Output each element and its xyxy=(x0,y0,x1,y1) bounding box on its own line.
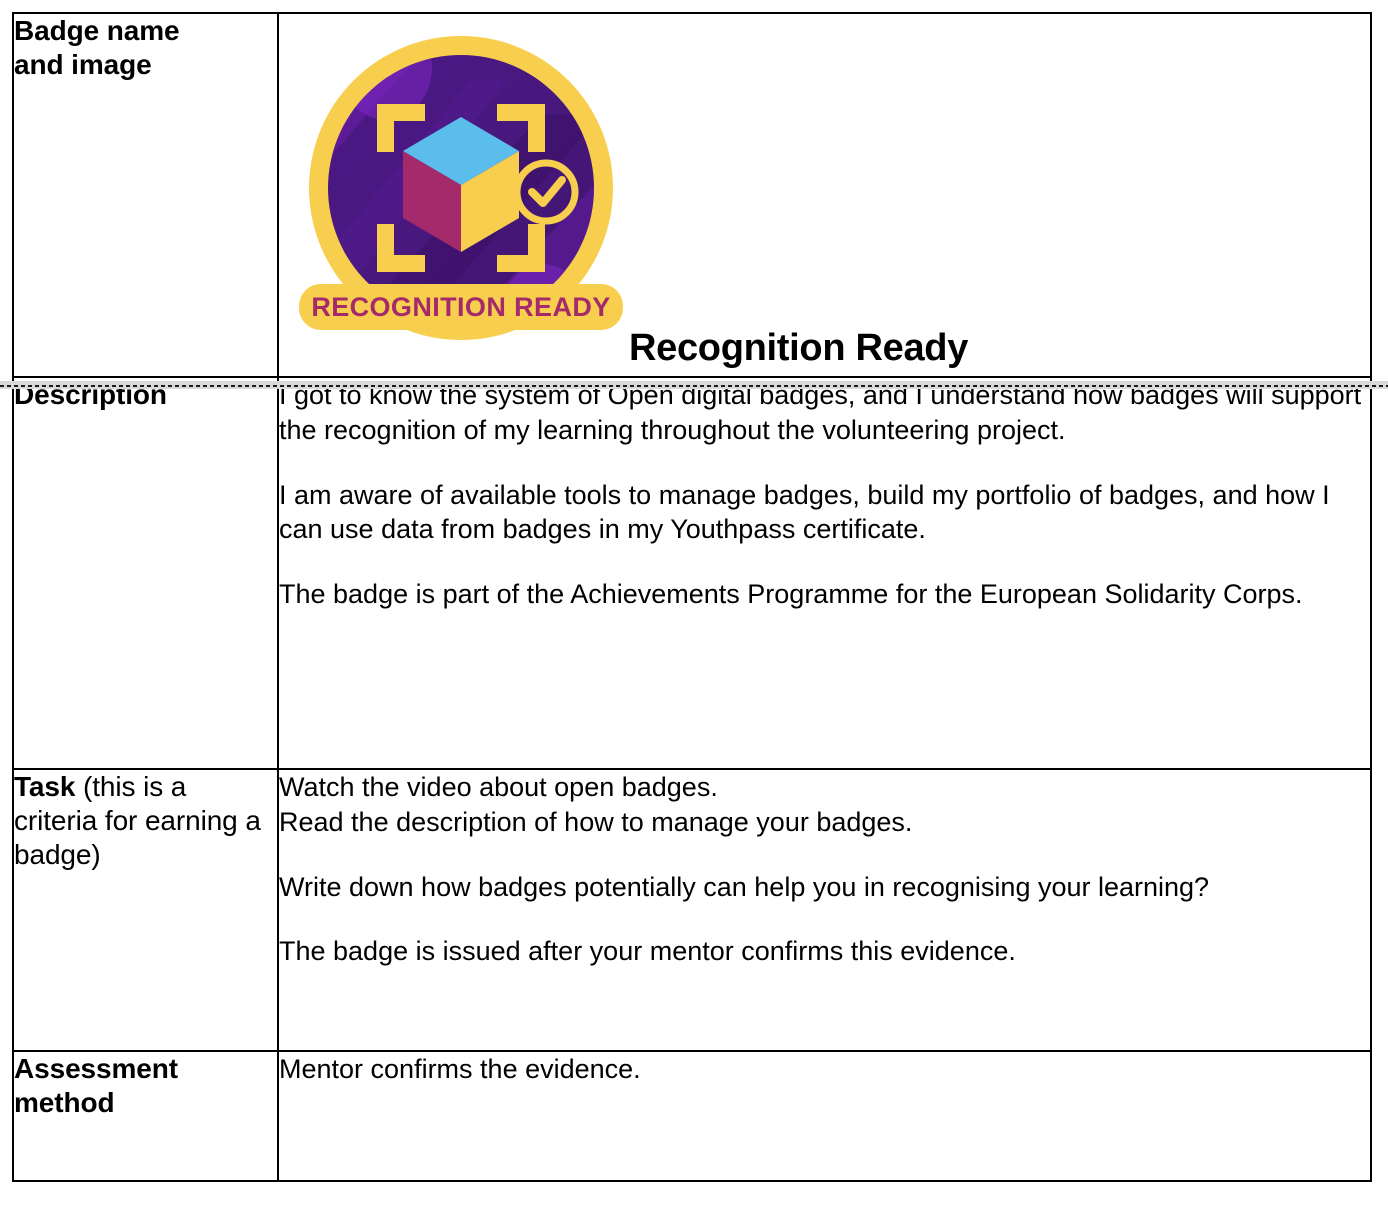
task-paragraph-3: Write down how badges potentially can he… xyxy=(279,870,1370,905)
table-row-description: Description I got to know the system of … xyxy=(13,377,1371,769)
label-line-assessment-2: method xyxy=(14,1087,115,1118)
label-line-assessment-1: Assessment xyxy=(14,1053,178,1084)
description-paragraph-2: I am aware of available tools to manage … xyxy=(279,478,1370,548)
row-label-task: Task (this is a criteria for earning a b… xyxy=(13,769,278,1051)
badge-row-inner: RECOGNITION READY Recognition Ready xyxy=(279,14,1370,376)
page-break-divider xyxy=(0,381,1388,389)
row-value-task: Watch the video about open badges. Read … xyxy=(278,769,1371,1051)
row-label-description: Description xyxy=(13,377,278,769)
row-value-description: I got to know the system of Open digital… xyxy=(278,377,1371,769)
label-line-1: Badge name xyxy=(14,15,180,46)
task-paragraph-4: The badge is issued after your mentor co… xyxy=(279,934,1370,969)
badge-artwork: RECOGNITION READY xyxy=(291,20,631,370)
badge-ribbon-text: RECOGNITION READY xyxy=(311,292,610,322)
row-label-badge-name: Badge name and image xyxy=(13,13,278,377)
table-row-task: Task (this is a criteria for earning a b… xyxy=(13,769,1371,1051)
label-text-task: Task xyxy=(14,771,75,802)
description-paragraph-3: The badge is part of the Achievements Pr… xyxy=(279,577,1370,612)
badge-specification-table: Badge name and image xyxy=(12,12,1372,1182)
table-row-badge: Badge name and image xyxy=(13,13,1371,377)
task-paragraph-1: Watch the video about open badges. xyxy=(279,770,1370,805)
task-paragraph-2: Read the description of how to manage yo… xyxy=(279,805,1370,840)
row-value-badge-image: RECOGNITION READY Recognition Ready xyxy=(278,13,1371,377)
row-value-assessment: Mentor confirms the evidence. xyxy=(278,1051,1371,1181)
badge-title: Recognition Ready xyxy=(629,324,968,373)
label-line-2: and image xyxy=(14,49,152,80)
table-row-assessment: Assessment method Mentor confirms the ev… xyxy=(13,1051,1371,1181)
assessment-paragraph-1: Mentor confirms the evidence. xyxy=(279,1052,1370,1087)
document-page: Badge name and image xyxy=(0,0,1388,1226)
row-label-assessment: Assessment method xyxy=(13,1051,278,1181)
